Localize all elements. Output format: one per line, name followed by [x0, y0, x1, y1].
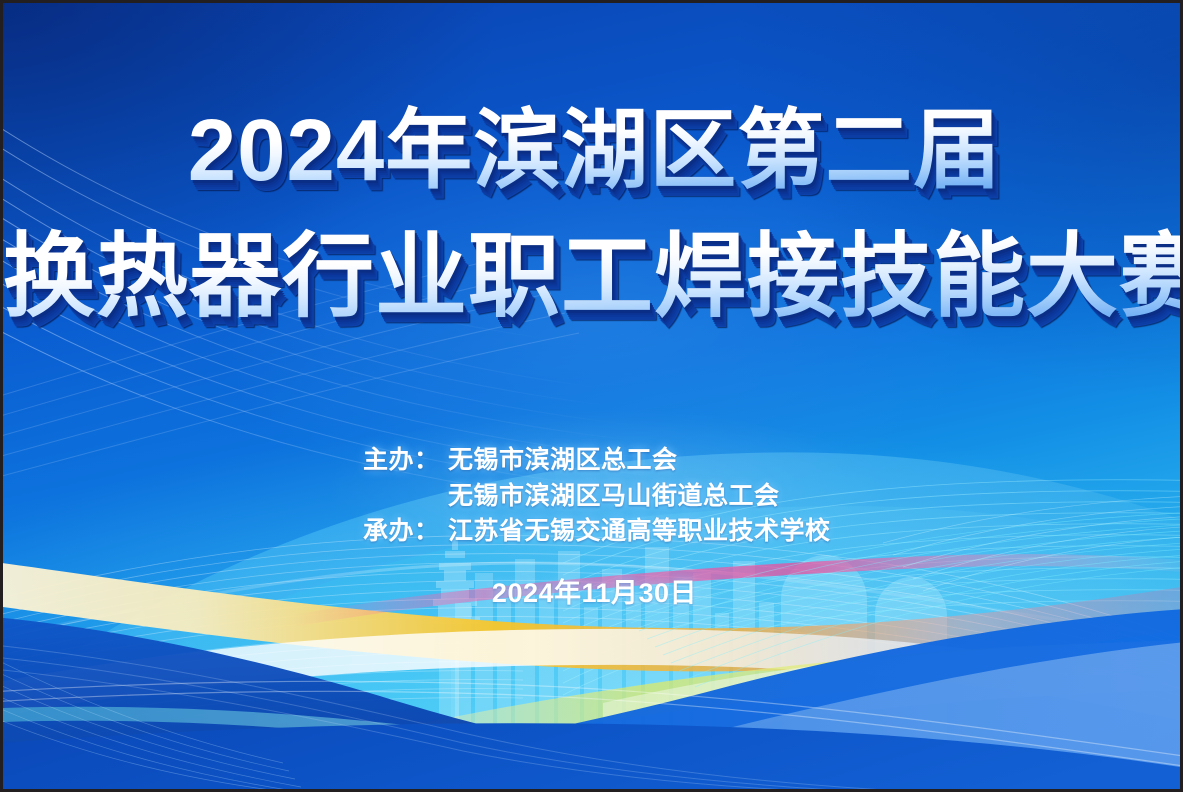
organizer-row: 主办： 无锡市滨湖区总工会 [363, 443, 883, 479]
organizer-value: 无锡市滨湖区总工会 [448, 443, 678, 479]
title-line-2: 换热器行业职工焊接技能大赛 换热器行业职工焊接技能大赛 [3, 231, 1183, 335]
organizer-row: 承办： 江苏省无锡交通高等职业技术学校 [363, 514, 883, 550]
title-line-1: 2024年滨湖区第二届 2024年滨湖区第二届 [3, 107, 1183, 203]
organizer-value: 无锡市滨湖区马山街道总工会 [448, 479, 780, 515]
event-date: 2024年11月30日 [3, 571, 1183, 610]
poster-canvas: 2024年滨湖区第二届 2024年滨湖区第二届 换热器行业职工焊接技能大赛 换热… [0, 0, 1183, 792]
organizer-label: 承办： [363, 514, 448, 550]
organizer-row: 无锡市滨湖区马山街道总工会 [363, 479, 883, 515]
organizer-label: 主办： [363, 443, 448, 479]
title-line-2-face: 换热器行业职工焊接技能大赛 [3, 226, 1183, 328]
title-line-1-face: 2024年滨湖区第二届 [188, 102, 1002, 199]
title-block: 2024年滨湖区第二届 2024年滨湖区第二届 换热器行业职工焊接技能大赛 换热… [3, 107, 1183, 335]
poster-stage: 2024年滨湖区第二届 2024年滨湖区第二届 换热器行业职工焊接技能大赛 换热… [3, 3, 1183, 792]
organizer-value: 江苏省无锡交通高等职业技术学校 [448, 514, 831, 550]
organizer-block: 主办： 无锡市滨湖区总工会 无锡市滨湖区马山街道总工会 承办： 江苏省无锡交通高… [363, 443, 883, 550]
